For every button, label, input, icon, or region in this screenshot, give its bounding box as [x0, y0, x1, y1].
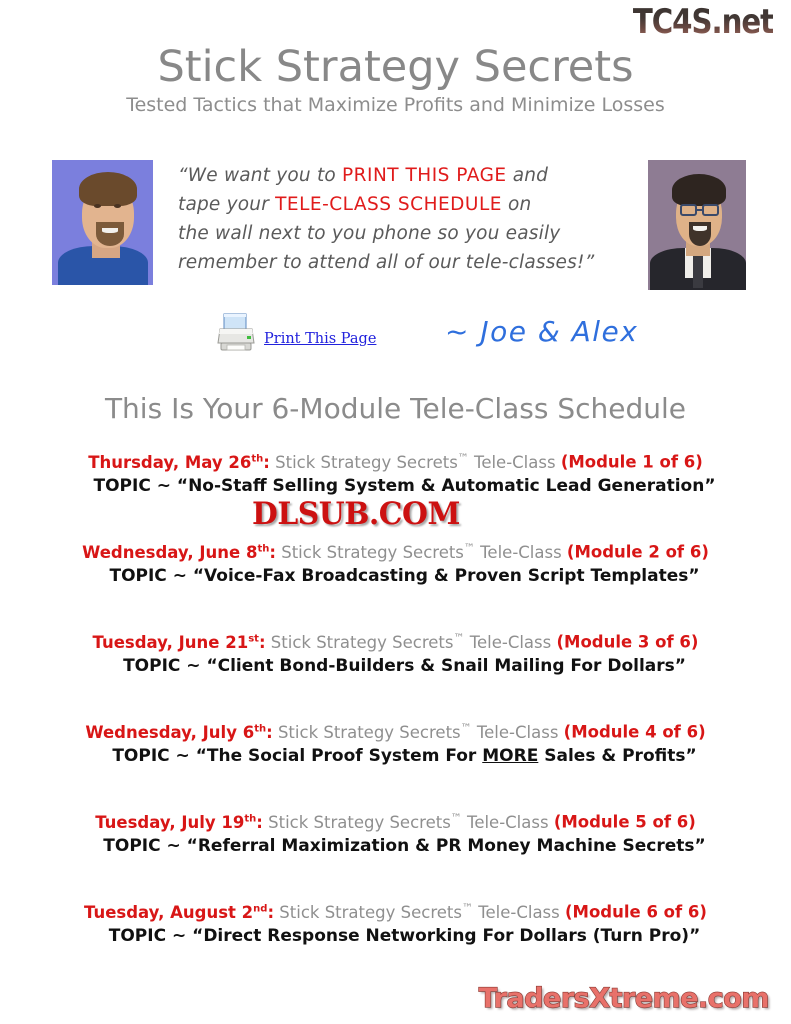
- joe-hair: [79, 172, 137, 206]
- dlsub-watermark: DLSUB.COM: [252, 496, 460, 532]
- topic-text: The Social Proof System For: [207, 746, 482, 766]
- topic-text: Sales & Profits: [538, 746, 685, 766]
- module-date-line: Tuesday, June 21st: Stick Strategy Secre…: [0, 627, 791, 654]
- module-date-line: Tuesday, August 2nd: Stick Strategy Secr…: [0, 897, 791, 924]
- topic-text: Direct Response Networking For Dollars (…: [203, 926, 689, 946]
- quote-line-2: tape your TELE-CLASS SCHEDULE on: [178, 190, 638, 219]
- module-number-label: (Module 3 of 6): [556, 633, 698, 652]
- topic-prefix: TOPIC ~ “: [112, 746, 207, 766]
- topic-close-quote: ”: [675, 656, 686, 676]
- print-this-page-row[interactable]: Print This Page: [212, 312, 376, 356]
- date-ordinal-suffix: st: [248, 633, 259, 644]
- topic-close-quote: ”: [695, 836, 706, 856]
- quote-text: on: [502, 194, 532, 215]
- signature-joe-alex: ~ Joe & Alex: [445, 315, 638, 348]
- date-colon: :: [269, 543, 276, 562]
- date-colon: :: [256, 813, 263, 832]
- module-class-name: Stick Strategy Secrets™ Tele-Class: [276, 543, 567, 562]
- date-colon: :: [259, 633, 266, 652]
- module-number-label: (Module 4 of 6): [564, 723, 706, 742]
- date-ordinal-suffix: nd: [253, 903, 267, 914]
- quote-text: tape your: [178, 194, 275, 215]
- module-entry: Wednesday, July 6th: Stick Strategy Secr…: [0, 717, 791, 807]
- alex-smile: [693, 226, 707, 231]
- module-date: Tuesday, July 19th:: [95, 813, 263, 832]
- topic-close-quote: ”: [689, 926, 700, 946]
- module-class-name: Stick Strategy Secrets™ Tele-Class: [266, 633, 557, 652]
- topic-text: No-Staff Selling System & Automatic Lead…: [188, 476, 704, 496]
- alex-glasses-left: [680, 204, 697, 216]
- date-ordinal-suffix: th: [257, 543, 269, 554]
- module-date-line: Thursday, May 26th: Stick Strategy Secre…: [0, 447, 791, 474]
- topic-prefix: TOPIC ~ “: [103, 836, 198, 856]
- quote-line-4: remember to attend all of our tele-class…: [178, 248, 638, 277]
- module-date: Tuesday, June 21st:: [93, 633, 266, 652]
- module-topic-line: TOPIC ~ “Client Bond-Builders & Snail Ma…: [0, 654, 791, 678]
- printer-icon: [212, 312, 258, 356]
- topic-prefix: TOPIC ~ “: [123, 656, 218, 676]
- quote-text: “We want you to: [178, 165, 342, 186]
- date-ordinal-suffix: th: [254, 723, 266, 734]
- topic-close-quote: ”: [704, 476, 715, 496]
- schedule-heading: This Is Your 6-Module Tele-Class Schedul…: [0, 392, 791, 425]
- module-topic-line: TOPIC ~ “No-Staff Selling System & Autom…: [0, 474, 791, 498]
- module-entry: Tuesday, August 2nd: Stick Strategy Secr…: [0, 897, 791, 987]
- module-topic-line: TOPIC ~ “Direct Response Networking For …: [0, 924, 791, 948]
- date-colon: :: [263, 453, 270, 472]
- document-page: TC4S.net TC4S.net Stick Strategy Secrets…: [0, 0, 791, 1024]
- quote-highlight-schedule: TELE-CLASS SCHEDULE: [275, 194, 502, 215]
- module-number-label: (Module 6 of 6): [565, 903, 707, 922]
- module-class-name: Stick Strategy Secrets™ Tele-Class: [270, 453, 561, 472]
- trademark-icon: ™: [464, 541, 475, 554]
- module-topic-line: TOPIC ~ “Voice-Fax Broadcasting & Proven…: [0, 564, 791, 588]
- trademark-icon: ™: [453, 631, 464, 644]
- alex-glasses-bridge: [697, 209, 702, 211]
- alex-tie: [693, 252, 703, 288]
- topic-close-quote: ”: [685, 746, 696, 766]
- module-date: Wednesday, July 6th:: [85, 723, 272, 742]
- topic-text: Client Bond-Builders & Snail Mailing For…: [218, 656, 675, 676]
- module-class-name: Stick Strategy Secrets™ Tele-Class: [273, 723, 564, 742]
- testimonial-quote: “We want you to PRINT THIS PAGE and tape…: [178, 161, 638, 277]
- quote-line-3: the wall next to you phone so you easily: [178, 219, 638, 248]
- trademark-icon: ™: [451, 811, 462, 824]
- trademark-icon: ™: [461, 721, 472, 734]
- module-class-name: Stick Strategy Secrets™ Tele-Class: [263, 813, 554, 832]
- brand-logo-tc4s: TC4S.net: [633, 2, 773, 42]
- date-ordinal-suffix: th: [251, 453, 263, 464]
- module-date: Tuesday, August 2nd:: [84, 903, 274, 922]
- quote-line-1: “We want you to PRINT THIS PAGE and: [178, 161, 638, 190]
- module-number-label: (Module 1 of 6): [561, 453, 703, 472]
- module-date: Thursday, May 26th:: [88, 453, 270, 472]
- headshot-alex: [648, 160, 746, 290]
- module-date-line: Tuesday, July 19th: Stick Strategy Secre…: [0, 807, 791, 834]
- print-this-page-link[interactable]: Print This Page: [264, 331, 376, 347]
- headshot-joe: [52, 160, 153, 285]
- page-title: Stick Strategy Secrets: [0, 42, 791, 92]
- topic-emphasis: MORE: [482, 746, 538, 766]
- topic-text: Voice-Fax Broadcasting & Proven Script T…: [204, 566, 688, 586]
- date-ordinal-suffix: th: [244, 813, 256, 824]
- joe-eye-left: [94, 204, 101, 208]
- quote-highlight-print: PRINT THIS PAGE: [342, 165, 507, 186]
- joe-beard: [96, 222, 124, 246]
- topic-prefix: TOPIC ~ “: [109, 566, 204, 586]
- module-entry: Wednesday, June 8th: Stick Strategy Secr…: [0, 537, 791, 627]
- trademark-icon: ™: [462, 901, 473, 914]
- footer-logo-tradersxtreme: TradersXtreme.com: [479, 983, 769, 1014]
- module-date-line: Wednesday, June 8th: Stick Strategy Secr…: [0, 537, 791, 564]
- trademark-icon: ™: [458, 451, 469, 464]
- alex-hair: [672, 174, 726, 206]
- module-topic-line: TOPIC ~ “Referral Maximization & PR Mone…: [0, 834, 791, 858]
- module-date: Wednesday, June 8th:: [82, 543, 276, 562]
- module-class-name: Stick Strategy Secrets™ Tele-Class: [274, 903, 565, 922]
- module-number-label: (Module 2 of 6): [567, 543, 709, 562]
- topic-close-quote: ”: [688, 566, 699, 586]
- module-entry: Tuesday, July 19th: Stick Strategy Secre…: [0, 807, 791, 897]
- page-subtitle: Tested Tactics that Maximize Profits and…: [0, 94, 791, 116]
- topic-prefix: TOPIC ~ “: [94, 476, 189, 496]
- quote-text: and: [507, 165, 549, 186]
- module-date-line: Wednesday, July 6th: Stick Strategy Secr…: [0, 717, 791, 744]
- topic-text: Referral Maximization & PR Money Machine…: [198, 836, 695, 856]
- module-number-label: (Module 5 of 6): [554, 813, 696, 832]
- joe-eye-right: [114, 204, 121, 208]
- joe-smile: [102, 228, 118, 233]
- module-entry: Tuesday, June 21st: Stick Strategy Secre…: [0, 627, 791, 717]
- topic-prefix: TOPIC ~ “: [109, 926, 204, 946]
- date-colon: :: [266, 723, 273, 742]
- alex-glasses-right: [702, 204, 719, 216]
- module-topic-line: TOPIC ~ “The Social Proof System For MOR…: [0, 744, 791, 768]
